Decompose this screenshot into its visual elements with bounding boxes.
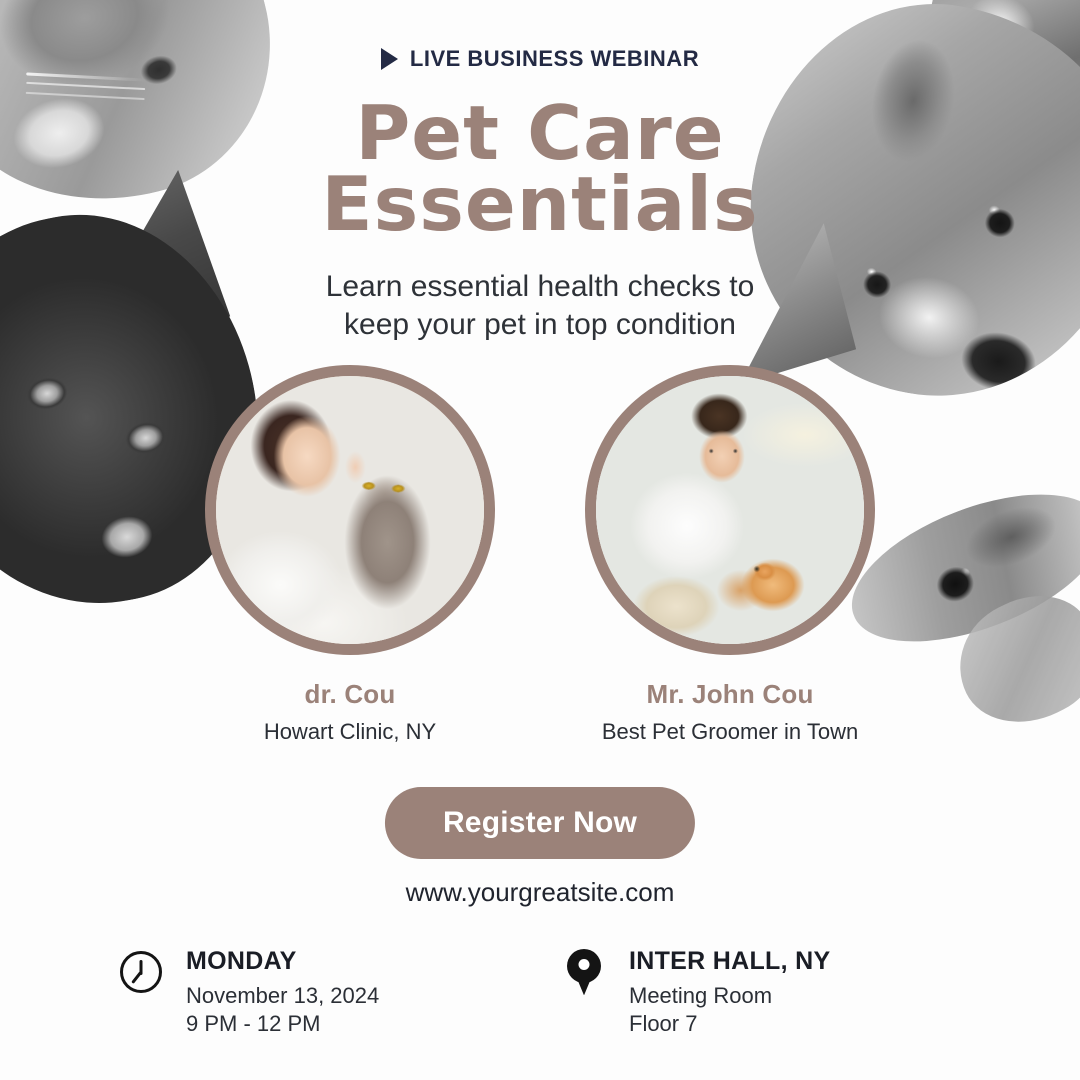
event-time-label: 9 PM - 12 PM — [186, 1011, 379, 1038]
event-date-label: November 13, 2024 — [186, 983, 379, 1010]
website-url[interactable]: www.yourgreatsite.com — [0, 877, 1080, 908]
speaker-name: Mr. John Cou — [570, 679, 890, 710]
poster-content: LIVE BUSINESS WEBINAR Pet Care Essential… — [0, 0, 1080, 1080]
clock-icon — [120, 951, 162, 993]
page-title: Pet Care Essentials — [0, 98, 1080, 239]
subtitle-line-2: keep your pet in top condition — [0, 306, 1080, 344]
event-venue-block: INTER HALL, NY Meeting Room Floor 7 — [519, 947, 962, 1038]
play-triangle-icon — [381, 48, 398, 70]
kicker-label: LIVE BUSINESS WEBINAR — [410, 46, 699, 72]
speaker-card-1: dr. Cou Howart Clinic, NY — [190, 365, 510, 745]
event-info-row: MONDAY November 13, 2024 9 PM - 12 PM IN… — [0, 947, 1080, 1038]
venue-floor-label: Floor 7 — [629, 1011, 830, 1038]
speaker-photo-woman-with-cat — [216, 376, 484, 644]
speaker-role: Howart Clinic, NY — [190, 719, 510, 745]
title-line-2: Essentials — [0, 169, 1080, 240]
speaker-photo-man-with-cat — [596, 376, 864, 644]
subtitle: Learn essential health checks to keep yo… — [0, 268, 1080, 344]
map-pin-icon-box — [561, 949, 607, 995]
speaker-role: Best Pet Groomer in Town — [570, 719, 890, 745]
map-pin-tail — [574, 971, 594, 995]
event-date-text: MONDAY November 13, 2024 9 PM - 12 PM — [186, 947, 379, 1038]
webinar-poster: LIVE BUSINESS WEBINAR Pet Care Essential… — [0, 0, 1080, 1080]
avatar — [205, 365, 495, 655]
venue-name-label: INTER HALL, NY — [629, 947, 830, 976]
avatar — [585, 365, 875, 655]
register-now-button[interactable]: Register Now — [385, 787, 695, 859]
event-day-label: MONDAY — [186, 947, 379, 976]
map-pin-icon — [567, 949, 601, 995]
speaker-card-2: Mr. John Cou Best Pet Groomer in Town — [570, 365, 890, 745]
speaker-name: dr. Cou — [190, 679, 510, 710]
venue-room-label: Meeting Room — [629, 983, 830, 1010]
event-venue-text: INTER HALL, NY Meeting Room Floor 7 — [629, 947, 830, 1038]
event-date-block: MONDAY November 13, 2024 9 PM - 12 PM — [118, 947, 519, 1038]
subtitle-line-1: Learn essential health checks to — [0, 268, 1080, 306]
kicker-row: LIVE BUSINESS WEBINAR — [0, 46, 1080, 72]
clock-icon-box — [118, 949, 164, 995]
speakers-row: dr. Cou Howart Clinic, NY Mr. John Cou B… — [0, 365, 1080, 745]
title-line-1: Pet Care — [0, 98, 1080, 169]
